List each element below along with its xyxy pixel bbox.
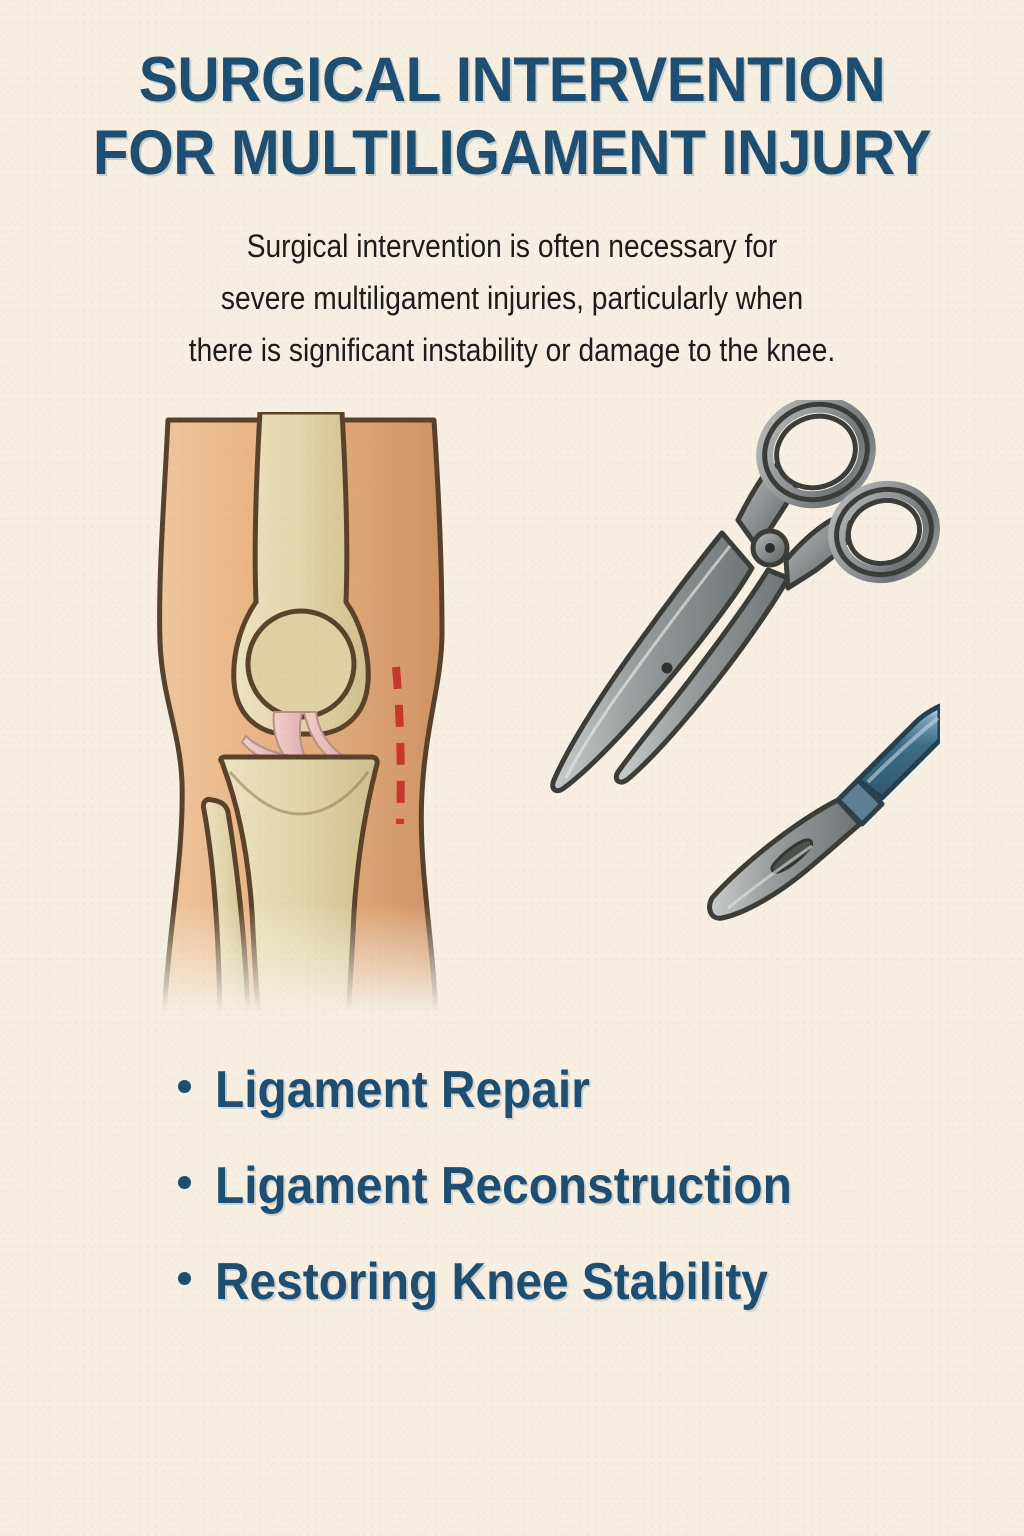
bullet-label: Ligament Repair — [215, 1042, 590, 1138]
bullet-label: Restoring Knee Stability — [215, 1234, 768, 1330]
bullet-dot-icon — [178, 1080, 191, 1093]
title-line-1: SURGICAL INTERVENTION — [36, 44, 988, 117]
list-item: Ligament Repair — [178, 1042, 998, 1138]
subtitle-line-1: Surgical intervention is often necessary… — [102, 220, 922, 272]
title-line-2: FOR MULTILIGAMENT INJURY — [36, 117, 988, 190]
bullet-dot-icon — [178, 1176, 191, 1189]
list-item: Ligament Reconstruction — [178, 1138, 998, 1234]
subtitle-line-2: severe multiligament injuries, particula… — [102, 272, 922, 324]
patella — [248, 611, 354, 717]
surgical-instruments-illustration — [540, 400, 940, 970]
subtitle-line-3: there is significant instability or dama… — [102, 324, 922, 376]
knee-anatomy-illustration — [150, 412, 450, 1012]
surgical-scissors — [553, 400, 940, 791]
bullet-dot-icon — [178, 1272, 191, 1285]
page-title: SURGICAL INTERVENTION FOR MULTILIGAMENT … — [36, 44, 988, 190]
subtitle: Surgical intervention is often necessary… — [102, 220, 922, 376]
list-item: Restoring Knee Stability — [178, 1234, 998, 1330]
bullet-list: Ligament Repair Ligament Reconstruction … — [178, 1042, 998, 1330]
scalpel — [710, 706, 940, 918]
bullet-label: Ligament Reconstruction — [215, 1138, 792, 1234]
